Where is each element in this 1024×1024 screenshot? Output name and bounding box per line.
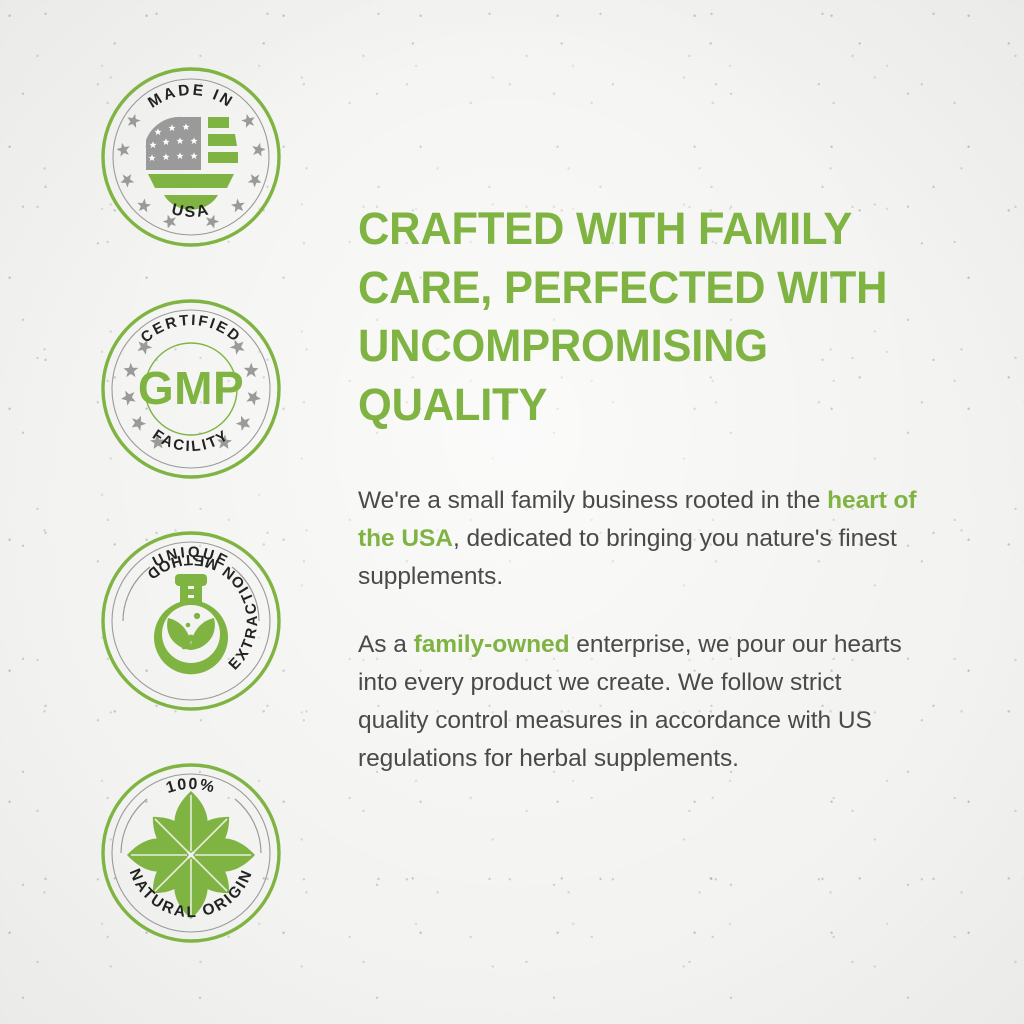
paragraph-1-segment-1: We're a small family business rooted in … [358, 487, 827, 514]
page-headline: CRAFTED WITH FAMILY CARE, PERFECTED WITH… [358, 200, 898, 434]
paragraph-1: We're a small family business rooted in … [358, 482, 918, 596]
content-column: CRAFTED WITH FAMILY CARE, PERFECTED WITH… [358, 200, 918, 778]
certification-badge-column: MADE IN USA [96, 62, 296, 948]
paragraph-2: As a family-owned enterprise, we pour ou… [358, 626, 918, 778]
paragraph-2-segment-1: As a [358, 631, 414, 658]
badge-natural-origin: 100% NATURAL ORIGIN [96, 758, 286, 948]
infographic-canvas: MADE IN USA [0, 0, 1024, 1024]
badge-bottom-text: FACILITY [149, 426, 232, 455]
flask-leaf-icon [154, 574, 228, 674]
badge-gmp-certified-facility: GMP CERTIFIED FACILITY [96, 294, 286, 484]
badge-made-in-usa: MADE IN USA [96, 62, 286, 252]
paragraph-2-highlight: family-owned [414, 631, 570, 658]
body-copy: We're a small family business rooted in … [358, 482, 918, 778]
badge-top-text: CERTIFIED [138, 312, 245, 347]
badge-unique-extraction-method: UNIQUE EXTRACTION METHOD [96, 526, 286, 716]
badge-bottom-text: USA [170, 201, 212, 221]
usa-flag-icon [146, 117, 238, 210]
badge-center-text: GMP [138, 362, 244, 414]
